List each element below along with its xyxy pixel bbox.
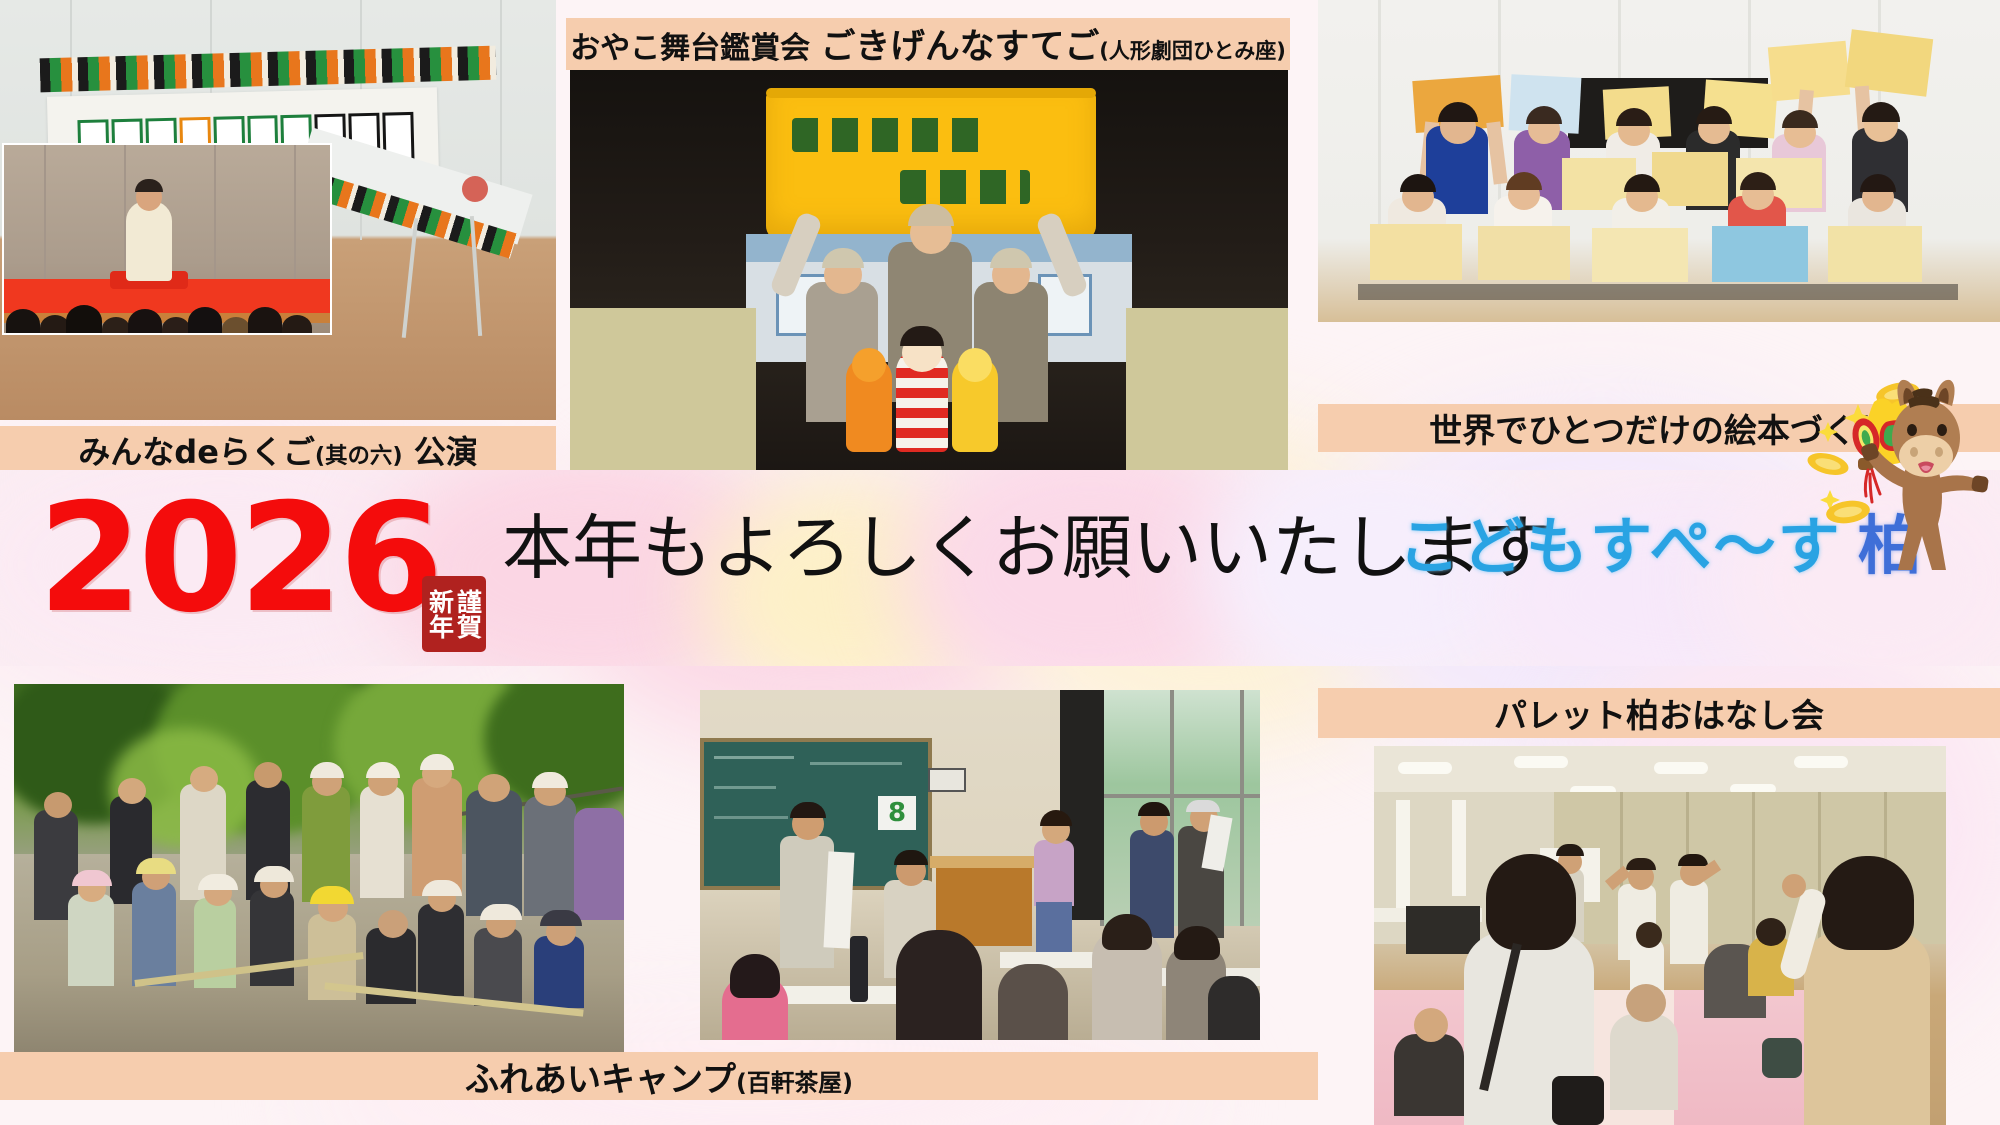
puppet-show-photo xyxy=(570,70,1288,488)
classroom-photo: 8 xyxy=(700,690,1260,1040)
caption-rakugo-main: みんなde xyxy=(78,433,219,471)
camp-photo xyxy=(14,684,624,1054)
caption-camp-sub: (百軒茶屋) xyxy=(736,1069,853,1097)
caption-camp-main: ふれあいキャンプ xyxy=(465,1060,736,1100)
greeting-banner: 2026 本年もよろしくお願いいたします こどもすぺ～す 柏 xyxy=(0,470,2000,666)
caption-puppet: おやこ舞台鑑賞会 ごきげんなすてご(人形劇団ひとみ座) xyxy=(566,18,1290,70)
caption-palette: パレット柏おはなし会 xyxy=(1318,688,2000,738)
caption-rakugo-tail: 公演 xyxy=(414,433,478,471)
caption-camp: ふれあいキャンプ(百軒茶屋) xyxy=(0,1052,1318,1100)
year-2026: 2026 xyxy=(38,484,439,634)
caption-puppet-main: ごきげんなすてご xyxy=(821,27,1100,67)
new-year-greeting-card: みんなdeらくご(其の六) 公演 おやこ舞台鑑賞会 ごきげんなすてご(人形劇団ひ… xyxy=(0,0,2000,1125)
seal-right-column: 謹賀 xyxy=(455,589,482,639)
new-year-seal-stamp: 謹賀 新年 xyxy=(424,578,484,650)
rakugo-performer-photo xyxy=(4,145,330,333)
caption-puppet-pre: おやこ舞台鑑賞会 xyxy=(570,31,810,66)
greeting-text: 本年もよろしくお願いいたします xyxy=(502,508,1552,588)
seal-left-column: 新年 xyxy=(427,589,454,639)
caption-rakugo-sub: (其の六) xyxy=(315,443,403,469)
picturebook-photo xyxy=(1318,0,2000,322)
caption-rakugo: みんなdeらくご(其の六) 公演 xyxy=(0,426,556,474)
classroom-number-sign: 8 xyxy=(888,798,906,828)
caption-puppet-sub: (人形劇団ひとみ座) xyxy=(1099,39,1286,63)
horse-mascot xyxy=(1800,378,2000,578)
caption-rakugo-main2: らくご xyxy=(219,433,315,471)
logo-kana: こどもすぺ～す xyxy=(1398,514,1842,580)
storytime-photo xyxy=(1374,746,1946,1125)
caption-palette-text: パレット柏おはなし会 xyxy=(1494,689,1824,737)
